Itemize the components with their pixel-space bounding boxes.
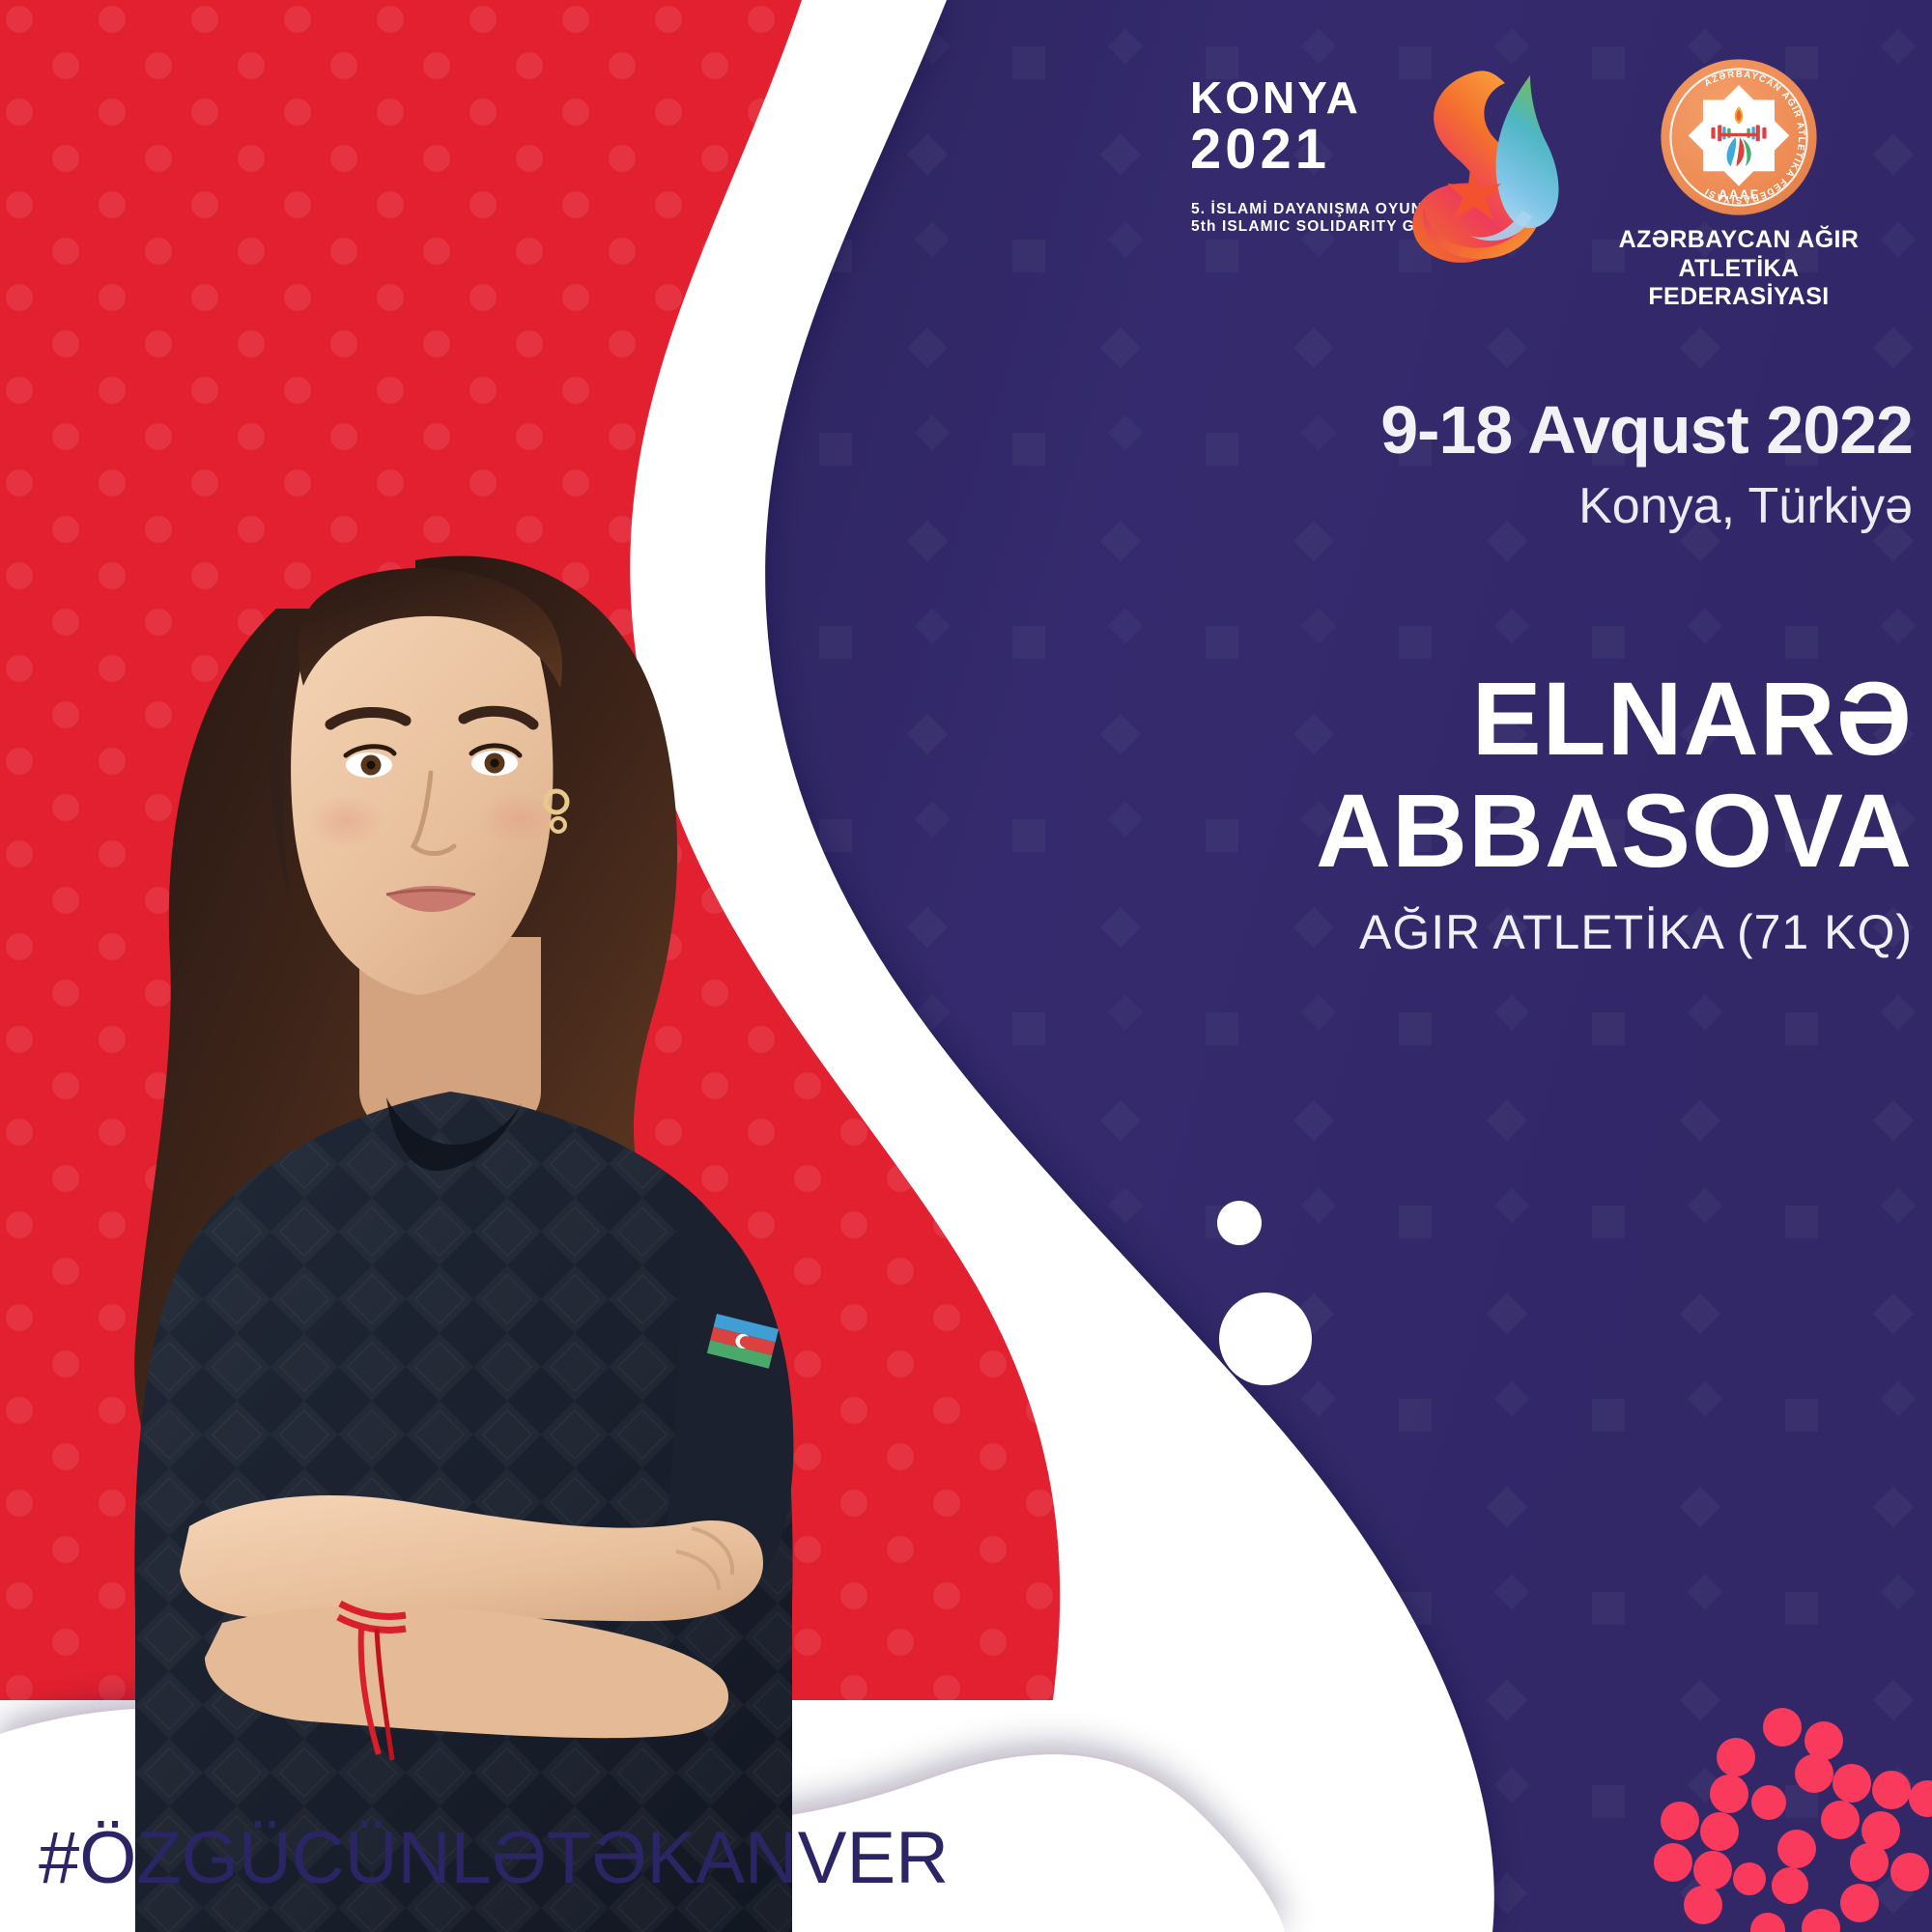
campaign-hashtag: #ÖZGÜCÜNLƏTƏKANVER	[39, 1816, 949, 1900]
poster-canvas: KONYA 2021 5. İSLAMİ DAYANIŞMA OYUNLARI …	[0, 0, 1932, 1932]
decor-circle-large	[1219, 1293, 1312, 1385]
konya-logo-year: 2021	[1190, 122, 1422, 178]
konya-logo-name: KONYA	[1190, 75, 1422, 120]
event-location: Konya, Türkiyə	[1043, 481, 1913, 531]
konya-2021-logo: KONYA 2021 5. İSLAMİ DAYANIŞMA OYUNLARI …	[1190, 66, 1577, 259]
athlete-details: ELNARƏ ABBASOVA AĞIR ATLETİKA (71 KQ)	[966, 667, 1913, 956]
konya-flame-icon	[1401, 62, 1584, 263]
event-dates: 9-18 Avqust 2022	[1043, 396, 1913, 464]
decor-circle-small	[1217, 1201, 1262, 1245]
federation-logo: AZƏRBAYCAN AĞIR ATLETİKA FEDERASİYASI	[1594, 56, 1884, 269]
athlete-portrait	[0, 319, 966, 1932]
athlete-last-name: ABBASOVA	[966, 779, 1913, 883]
event-details: 9-18 Avqust 2022 Konya, Türkiyə	[1043, 396, 1913, 531]
federation-badge-icon: AZƏRBAYCAN AĞIR ATLETİKA FEDERASİYASI	[1658, 56, 1820, 218]
athlete-sport-category: AĞIR ATLETİKA (71 KQ)	[966, 908, 1913, 956]
athlete-first-name: ELNARƏ	[966, 667, 1913, 771]
federation-abbr: AAAF	[1719, 187, 1759, 202]
federation-name-line1: AZƏRBAYCAN AĞIR	[1594, 226, 1884, 255]
federation-name-line2: ATLETİKA FEDERASİYASI	[1594, 255, 1884, 312]
